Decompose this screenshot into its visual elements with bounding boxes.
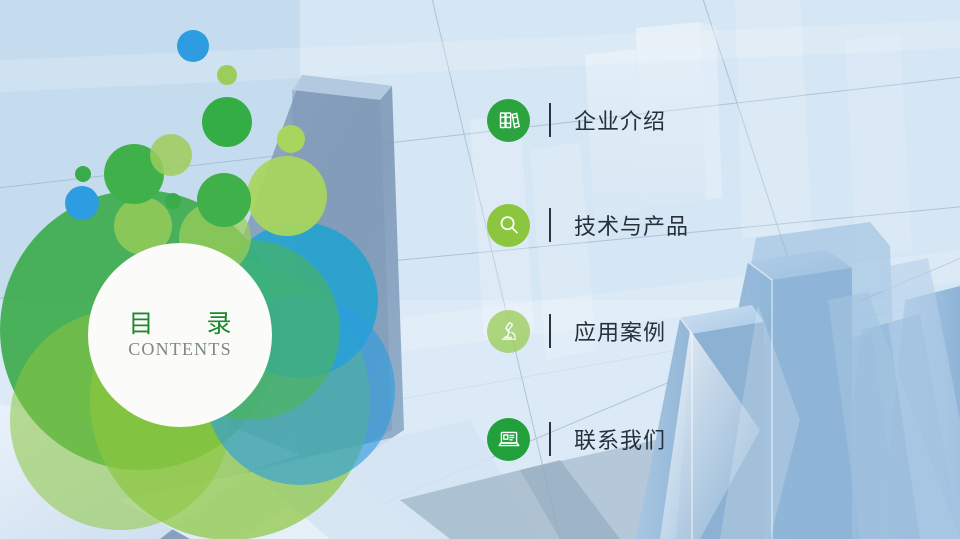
agenda-item-tech-products[interactable]: 技术与产品 <box>487 200 689 250</box>
agenda-item-label: 企业介绍 <box>574 104 666 136</box>
agenda-item-company-intro[interactable]: 企业介绍 <box>487 95 666 145</box>
agenda-item-label: 技术与产品 <box>574 209 689 241</box>
agenda-item-label: 应用案例 <box>574 315 666 347</box>
decor-circle <box>247 156 327 236</box>
contents-disc: 目 录 CONTENTS <box>88 243 272 427</box>
agenda-item-contact-us[interactable]: 联系我们 <box>487 414 666 464</box>
item-divider <box>549 103 551 137</box>
agenda-item-label: 联系我们 <box>574 423 666 455</box>
decor-circle <box>277 125 305 153</box>
contents-title: 目 录 <box>114 310 245 339</box>
decor-circle <box>75 166 91 182</box>
decor-circle <box>150 134 192 176</box>
magnifier-icon[interactable] <box>487 204 530 247</box>
decor-circle <box>177 30 209 62</box>
item-divider <box>549 314 551 348</box>
microscope-icon[interactable] <box>487 310 530 353</box>
agenda-slide: 目 录 CONTENTS 企业介绍 <box>0 0 960 539</box>
books-icon[interactable] <box>487 99 530 142</box>
decor-circle <box>202 97 252 147</box>
item-divider <box>549 422 551 456</box>
item-divider <box>549 208 551 242</box>
decor-circle <box>217 65 237 85</box>
decor-circle <box>65 186 99 220</box>
decor-circle <box>165 193 181 209</box>
laptop-icon[interactable] <box>487 418 530 461</box>
decor-circle <box>197 173 251 227</box>
agenda-item-case-studies[interactable]: 应用案例 <box>487 306 666 356</box>
contents-subtitle: CONTENTS <box>128 339 232 360</box>
